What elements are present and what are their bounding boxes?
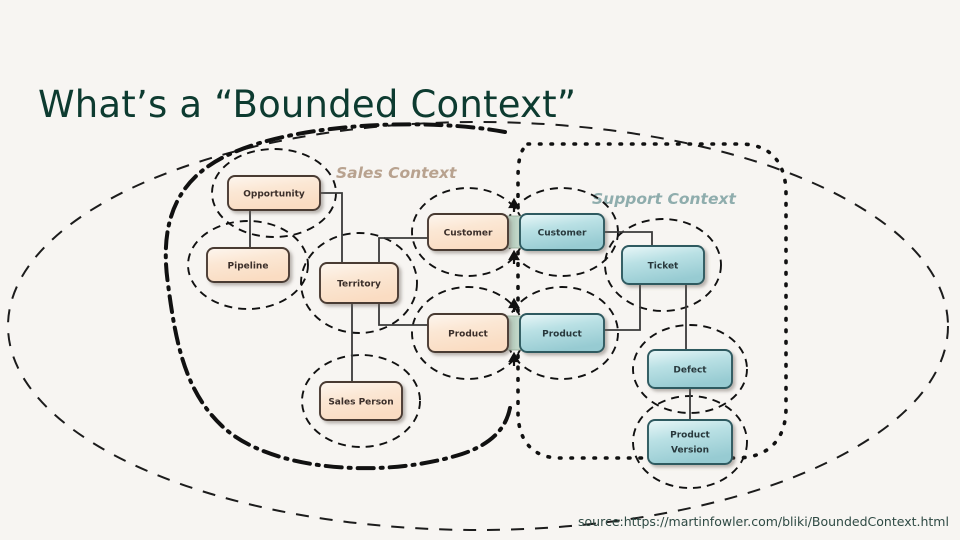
node-customer-sales[interactable]: Customer [428,214,508,250]
node-product-sales-label: Product [448,330,488,340]
node-opportunity-label: Opportunity [243,190,305,200]
node-product-version[interactable]: Product Version [648,420,732,464]
sales-context-label: Sales Context [336,164,457,182]
node-pipeline-label: Pipeline [228,262,269,272]
node-defect-label: Defect [673,366,707,376]
node-customer-support-label: Customer [538,229,587,239]
node-sales-person-label: Sales Person [328,398,393,408]
node-ticket[interactable]: Ticket [622,246,704,284]
node-product-support[interactable]: Product [520,314,604,352]
node-customer-sales-label: Customer [444,229,493,239]
node-ticket-label: Ticket [648,262,679,272]
node-customer-support[interactable]: Customer [520,214,604,250]
slide-canvas: What’s a “Bounded Context” [0,0,960,540]
node-territory-label: Territory [337,280,381,290]
node-pipeline[interactable]: Pipeline [207,248,289,282]
node-sales-person[interactable]: Sales Person [320,382,402,420]
node-opportunity[interactable]: Opportunity [228,176,320,210]
node-product-version-label-line1: Product [670,431,710,441]
edge-opportunity-territory [320,193,342,263]
node-product-sales[interactable]: Product [428,314,508,352]
node-product-support-label: Product [542,330,582,340]
node-defect[interactable]: Defect [648,350,732,388]
edge-territory-customer [379,238,428,263]
support-context-label: Support Context [592,190,736,208]
node-territory[interactable]: Territory [320,263,398,303]
context-map-svg: Sales Context Support Context [0,108,960,540]
node-product-version-label-line2: Version [671,446,709,456]
source-attribution: source:https://martinfowler.com/bliki/Bo… [578,514,949,529]
context-map-diagram: Sales Context Support Context [0,108,960,540]
